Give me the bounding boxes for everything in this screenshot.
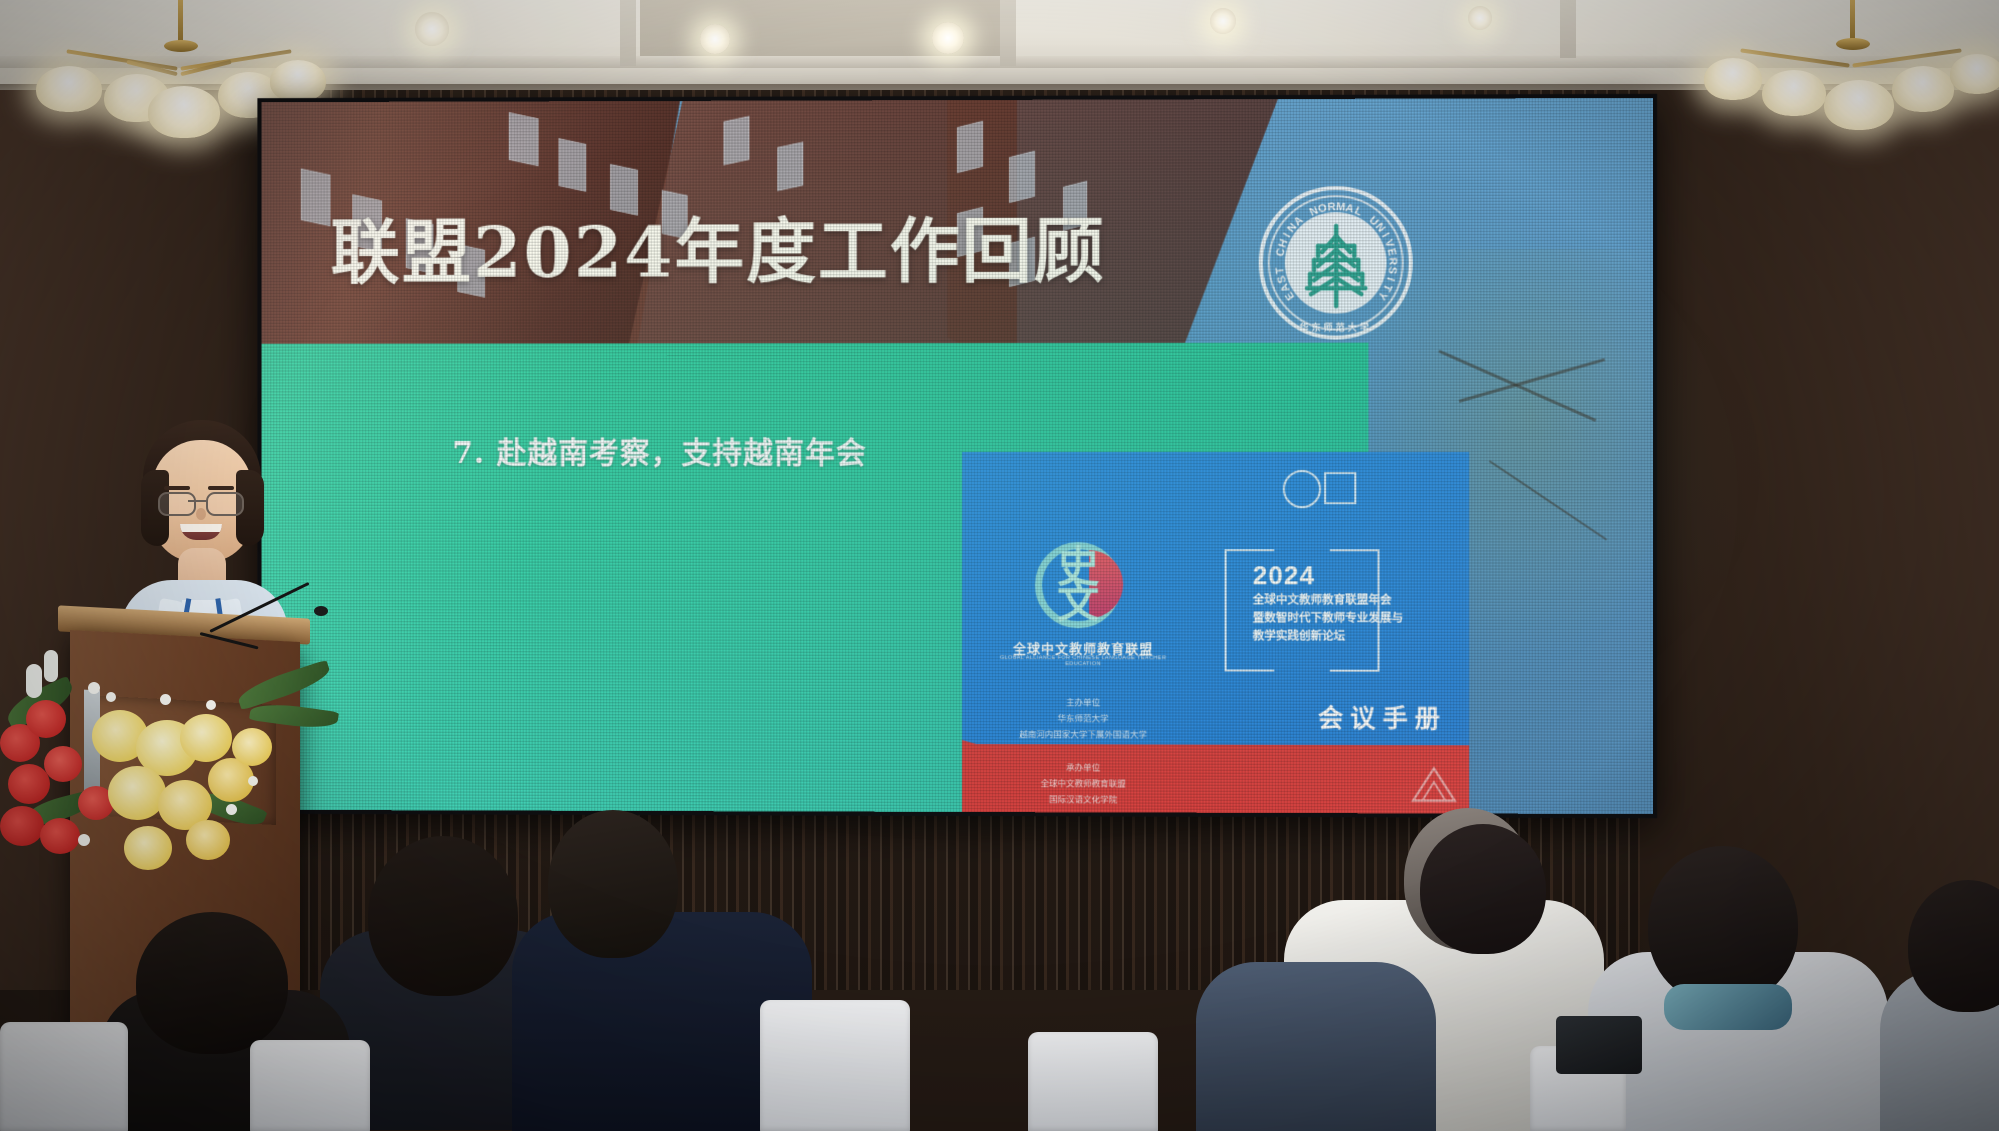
flower-bouquet bbox=[0, 648, 330, 918]
audience-member-5-hair bbox=[1420, 824, 1546, 954]
brochure-doc-label: 会议手册 bbox=[1318, 699, 1447, 735]
ceiling-beam bbox=[620, 0, 636, 66]
brochure-organizer-line: 全球中文教师教育联盟 bbox=[988, 775, 1178, 792]
audience-member-6-scarf bbox=[1664, 984, 1792, 1030]
brochure-event-line: 教学实践创新论坛 bbox=[1253, 628, 1403, 646]
brochure-organizer-line: 主办单位 bbox=[988, 694, 1178, 711]
ceiling-spotlight bbox=[415, 12, 449, 46]
audience-member-5-body bbox=[1196, 962, 1436, 1131]
chandelier-right bbox=[1700, 0, 1999, 150]
brochure-organizers: 主办单位华东师范大学越南河内国家大学下属外国语大学 承办单位全球中文教师教育联盟… bbox=[988, 694, 1178, 808]
ceiling-beam bbox=[1560, 0, 1576, 58]
chair-back-2 bbox=[250, 1040, 370, 1131]
audience-member-3-head bbox=[136, 912, 288, 1054]
brochure-organizer-line: 华东师范大学 bbox=[988, 710, 1178, 727]
brochure-square-seal-icon bbox=[1324, 472, 1356, 504]
brochure-event-line: 全球中文教师教育联盟年会 bbox=[1253, 592, 1403, 610]
speaker-nose bbox=[196, 508, 206, 520]
speaker-glasses-right-lens bbox=[206, 492, 244, 516]
foreground-device bbox=[1556, 1016, 1642, 1074]
slide-title: 联盟2024年度工作回顾 bbox=[331, 196, 1106, 298]
audience-member-1-head bbox=[368, 836, 518, 996]
brochure-organizer-line bbox=[988, 743, 1178, 760]
chair-back-4 bbox=[1028, 1032, 1158, 1131]
alliance-name-en: GLOBAL ALLIANCE FOR CHINESE LANGUAGE TEA… bbox=[998, 655, 1168, 667]
microphone-capsule bbox=[314, 606, 328, 616]
slide-bullet-text: 7. 赴越南考察，支持越南年会 bbox=[452, 428, 867, 472]
ceiling-spotlight bbox=[1210, 8, 1236, 34]
audience-member-6-head bbox=[1648, 846, 1798, 1004]
brochure-organizer-line: 国际汉语文化学院 bbox=[988, 791, 1178, 808]
brochure-corner-mark-icon bbox=[1411, 763, 1457, 803]
photo-stage: 联盟2024年度工作回顾 7. 赴越南考察，支持越南年会 EAST CHINA … bbox=[0, 0, 1999, 1131]
brochure-event-line: 暨数智时代下教师专业发展与 bbox=[1253, 610, 1403, 628]
chair-back-1 bbox=[0, 1022, 128, 1131]
audience-member-2-head bbox=[548, 810, 678, 958]
led-screen: 联盟2024年度工作回顾 7. 赴越南考察，支持越南年会 EAST CHINA … bbox=[261, 98, 1653, 814]
brochure-event-title: 全球中文教师教育联盟年会暨数智时代下教师专业发展与教学实践创新论坛 bbox=[1253, 592, 1403, 646]
conference-brochure-image: 史文 全球中文教师教育联盟 GLOBAL ALLIANCE FOR CHINES… bbox=[962, 452, 1469, 814]
speaker-eyebrow-right bbox=[208, 486, 234, 490]
brochure-organizer-line: 承办单位 bbox=[988, 759, 1178, 776]
alliance-logo-icon: 史文 bbox=[1035, 542, 1121, 628]
speaker-glasses-bridge bbox=[188, 500, 208, 502]
ceiling-spotlight bbox=[932, 22, 964, 54]
speaker-glasses-left-lens bbox=[158, 492, 196, 516]
speaker-eyebrow-left bbox=[164, 486, 190, 490]
brochure-seal-icon bbox=[1283, 470, 1321, 508]
brochure-organizer-line: 越南河内国家大学下属外国语大学 bbox=[988, 726, 1178, 743]
pine-tree-icon bbox=[1297, 221, 1373, 307]
ecnu-logo: EAST CHINA NORMAL UNIVERSITY bbox=[1259, 186, 1413, 340]
ceiling-spotlight bbox=[700, 24, 730, 54]
audience-member-5-head bbox=[1408, 816, 1424, 832]
ceiling-beam bbox=[1000, 0, 1016, 66]
chair-back-3 bbox=[760, 1000, 910, 1131]
ceiling-spotlight bbox=[1468, 6, 1492, 30]
logo-sub-text: 华东师范大学 bbox=[1259, 320, 1413, 333]
brochure-year: 2024 bbox=[1253, 560, 1315, 591]
